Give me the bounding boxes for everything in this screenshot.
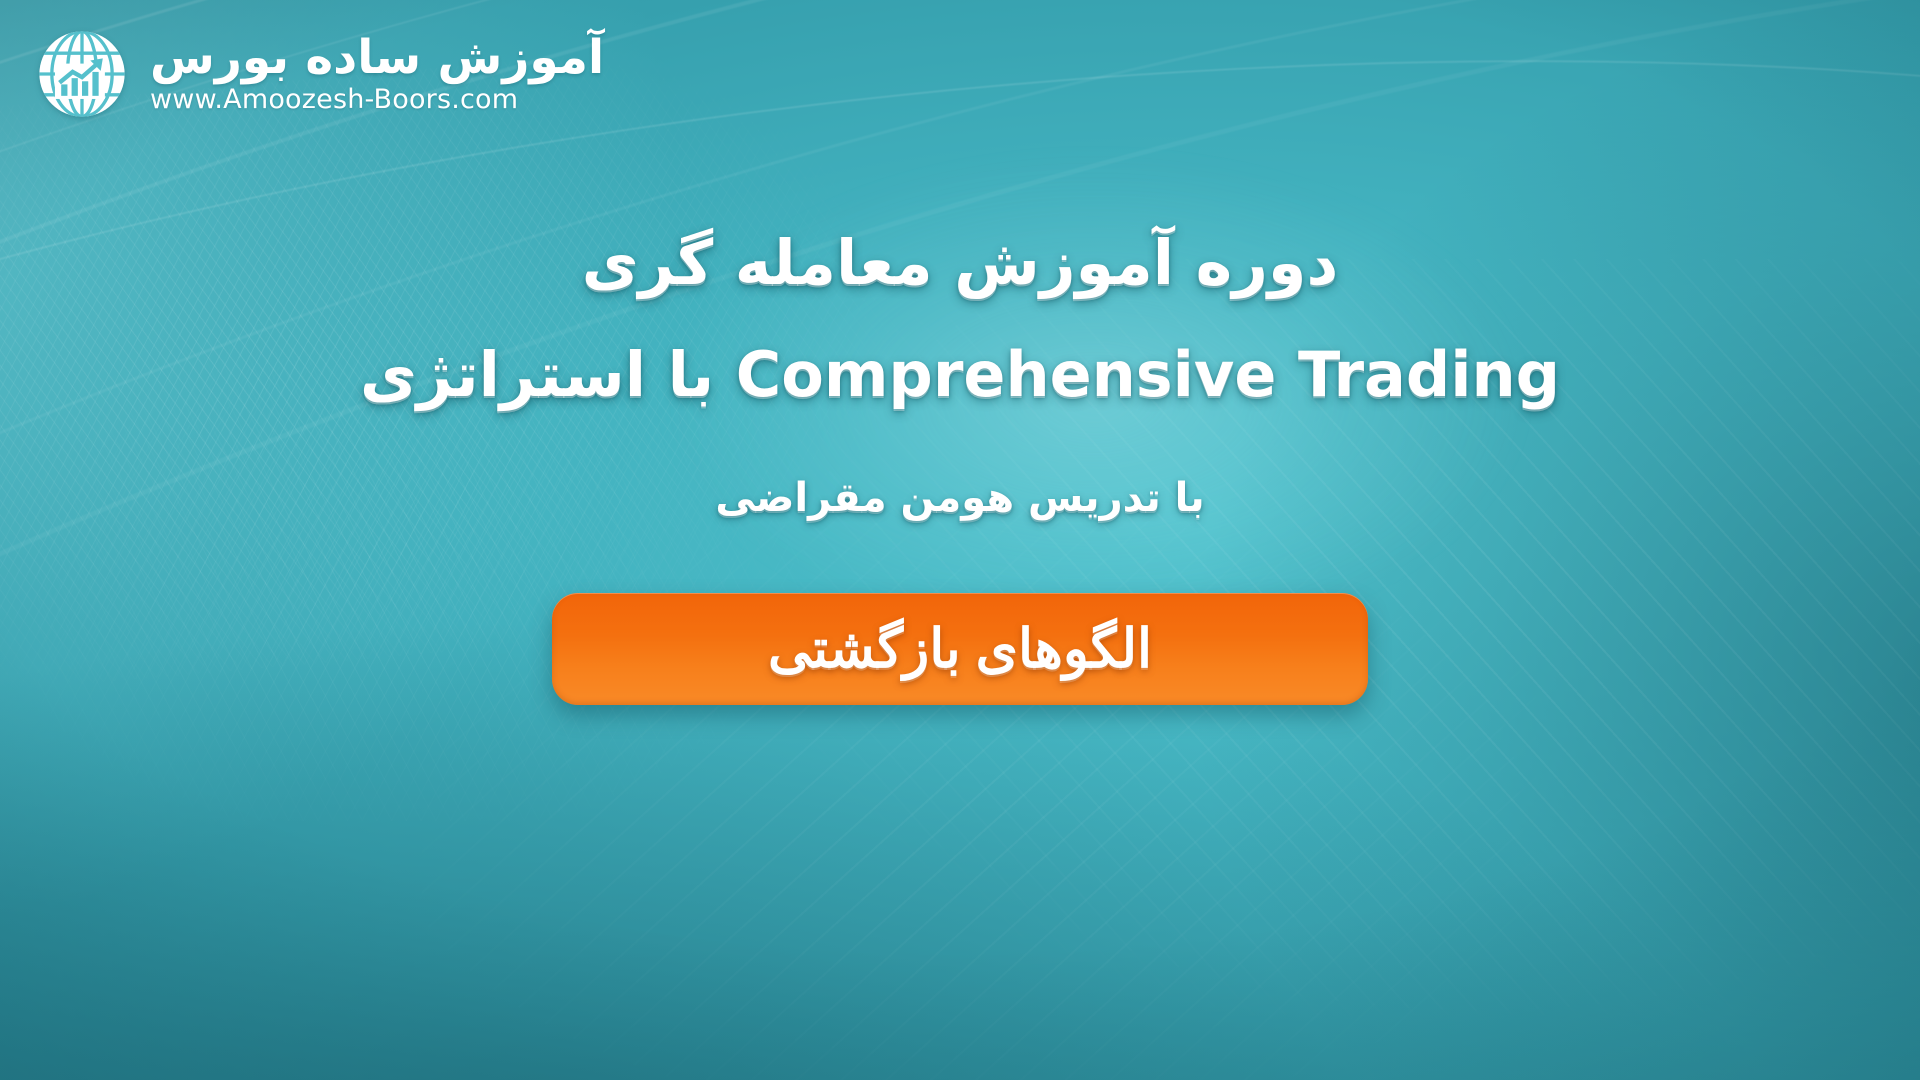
- globe-chart-icon: [30, 22, 134, 126]
- brand-name: آموزش ساده بورس: [150, 33, 604, 82]
- brand-logo[interactable]: آموزش ساده بورس www.Amoozesh-Boors.com: [30, 22, 604, 126]
- strategy-name-en: Comprehensive Trading: [736, 338, 1560, 411]
- course-title-line-1: دوره آموزش معامله گری: [0, 232, 1920, 294]
- brand-logo-text: آموزش ساده بورس www.Amoozesh-Boors.com: [150, 33, 604, 114]
- background-vignette: [0, 0, 1920, 1080]
- presenter-line: با تدریس هومن مقراضی: [0, 476, 1920, 520]
- course-title-line-2: Comprehensive Trading با استراتژی: [0, 344, 1920, 406]
- headline-block: دوره آموزش معامله گری Comprehensive Trad…: [0, 232, 1920, 520]
- topic-badge-button[interactable]: الگوهای بازگشتی: [552, 593, 1368, 705]
- strategy-prefix-fa: با استراتژی: [360, 338, 714, 411]
- topic-badge-label: الگوهای بازگشتی: [768, 622, 1152, 676]
- brand-website: www.Amoozesh-Boors.com: [150, 85, 604, 115]
- banner-canvas: آموزش ساده بورس www.Amoozesh-Boors.com د…: [0, 0, 1920, 1080]
